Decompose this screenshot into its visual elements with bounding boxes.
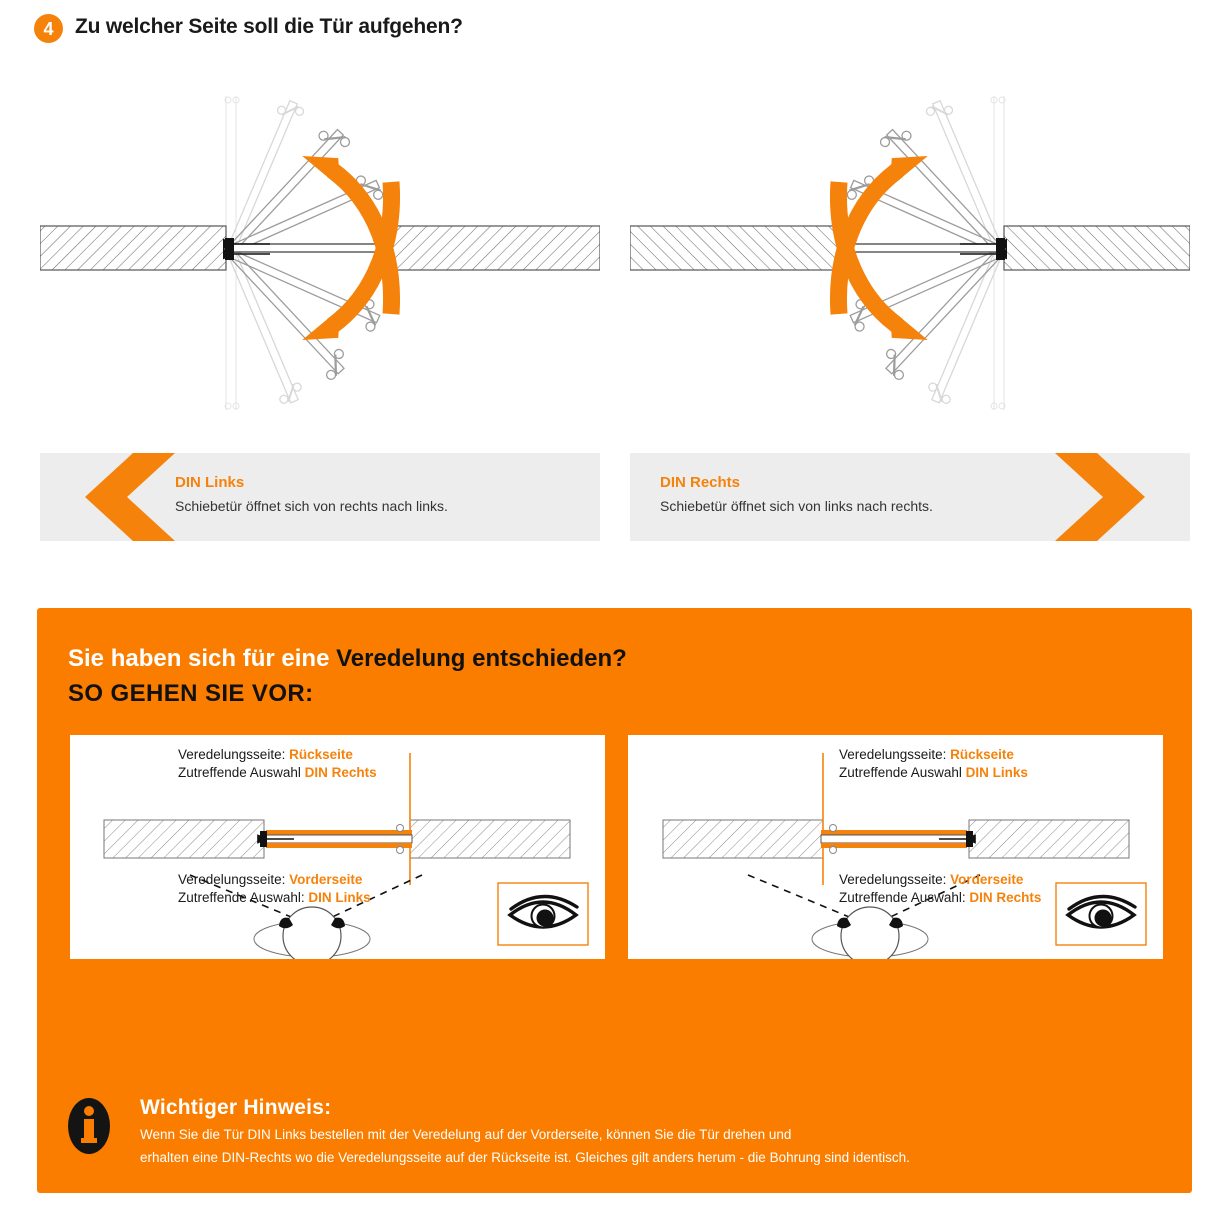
door-swing-diagram-left	[40, 78, 600, 428]
step-header: 4 Zu welcher Seite soll die Tür aufgehen…	[0, 0, 1228, 56]
veredelung-panel-links: Veredelungsseite: Rückseite Zutreffende …	[70, 735, 605, 959]
note-line-1: Wenn Sie die Tür DIN Links bestellen mit…	[140, 1127, 791, 1142]
veredel-right-bottom-choice: Zutreffende Auswahl: DIN Rechts	[839, 889, 1041, 907]
promo-subheadline: SO GEHEN SIE VOR:	[68, 680, 314, 708]
promo-headline: Sie haben sich für eine Veredelung entsc…	[68, 644, 627, 674]
chevron-left-icon	[75, 453, 185, 541]
din-links-title: DIN Links	[175, 474, 448, 492]
promo-headline-white: Sie haben sich für eine	[68, 645, 336, 672]
din-rechts-subtitle: Schiebetür öffnet sich von links nach re…	[660, 498, 933, 515]
option-din-rechts[interactable]: DIN Rechts Schiebetür öffnet sich von li…	[630, 453, 1190, 541]
head-top-view-icon	[254, 907, 370, 959]
veredel-left-bottom-choice: Zutreffende Auswahl: DIN Links	[178, 889, 371, 907]
note-line-2: erhalten eine DIN-Rechts wo die Veredelu…	[140, 1150, 910, 1165]
veredel-left-bottom-label: Veredelungsseite: Vorderseite	[178, 871, 362, 889]
veredel-right-bottom-label: Veredelungsseite: Vorderseite	[839, 871, 1023, 889]
door-leaf-closed	[232, 235, 392, 263]
swing-arrow-top	[838, 147, 927, 314]
veredel-right-top-label: Veredelungsseite: Rückseite	[839, 746, 1014, 764]
door-swing-diagram-right	[630, 78, 1190, 428]
din-links-text: DIN Links Schiebetür öffnet sich von rec…	[175, 474, 448, 515]
head-top-view-icon	[812, 907, 928, 959]
eye-badge	[498, 883, 588, 945]
veredelung-panel-rechts: Veredelungsseite: Rückseite Zutreffende …	[628, 735, 1163, 959]
veredel-left-top-choice: Zutreffende Auswahl DIN Rechts	[178, 764, 377, 782]
veredel-left-top-label: Veredelungsseite: Rückseite	[178, 746, 353, 764]
chevron-right-icon	[1045, 453, 1155, 541]
info-icon	[68, 1098, 110, 1154]
option-din-links[interactable]: DIN Links Schiebetür öffnet sich von rec…	[40, 453, 600, 541]
important-note: Wichtiger Hinweis: Wenn Sie die Tür DIN …	[68, 1096, 1158, 1176]
din-links-subtitle: Schiebetür öffnet sich von rechts nach l…	[175, 498, 448, 515]
din-rechts-title: DIN Rechts	[660, 474, 933, 492]
page-title: Zu welcher Seite soll die Tür aufgehen?	[75, 15, 463, 39]
veredel-right-top-choice: Zutreffende Auswahl DIN Links	[839, 764, 1028, 782]
din-rechts-text: DIN Rechts Schiebetür öffnet sich von li…	[660, 474, 933, 515]
step-number-badge: 4	[34, 14, 63, 43]
promo-headline-black: Veredelung entschieden?	[336, 645, 627, 672]
note-title: Wichtiger Hinweis:	[140, 1096, 331, 1120]
veredelung-promo-panel: Sie haben sich für eine Veredelung entsc…	[37, 608, 1192, 1193]
door-leaf-closed	[838, 235, 998, 263]
eye-badge	[1056, 883, 1146, 945]
